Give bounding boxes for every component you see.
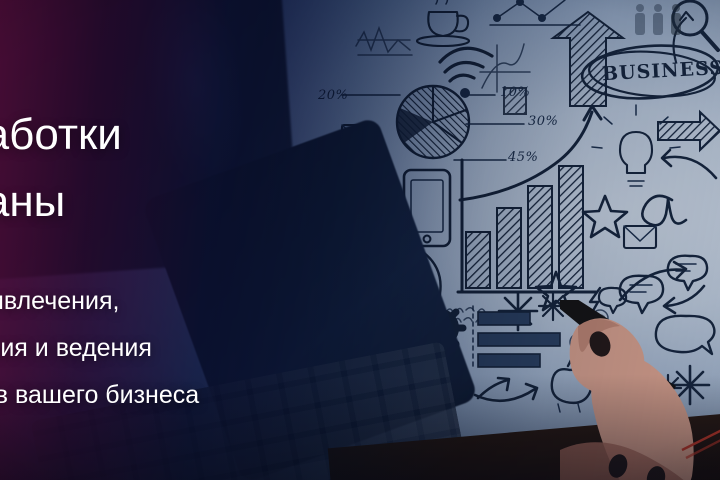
vignette-overlay: [0, 0, 720, 480]
promo-banner: @ 20% 10%: [0, 0, 720, 480]
